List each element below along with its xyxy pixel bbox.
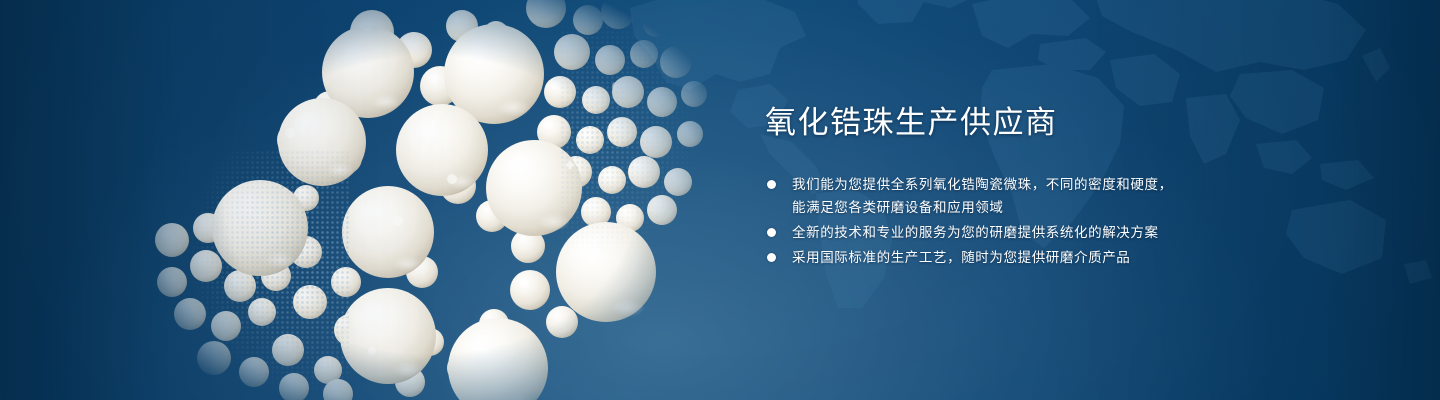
bullet-dot-icon: [767, 253, 776, 262]
list-item-line1: 我们能为您提供全系列氧化锆陶瓷微珠，不同的密度和硬度，: [792, 177, 1173, 192]
list-item: 全新的技术和专业的服务为您的研磨提供系统化的解决方案: [765, 221, 1365, 244]
list-item: 采用国际标准的生产工艺，随时为您提供研磨介质产品: [765, 246, 1365, 269]
page-title: 氧化锆珠生产供应商: [765, 104, 1365, 143]
list-item: 我们能为您提供全系列氧化锆陶瓷微珠，不同的密度和硬度， 能满足您各类研磨设备和应…: [765, 173, 1365, 219]
list-item-line1: 采用国际标准的生产工艺，随时为您提供研磨介质产品: [792, 250, 1130, 265]
bullet-dot-icon: [767, 228, 776, 237]
list-item-line1: 全新的技术和专业的服务为您的研磨提供系统化的解决方案: [792, 225, 1159, 240]
list-item-line2: 能满足您各类研磨设备和应用领域: [792, 196, 1365, 219]
bullet-dot-icon: [767, 180, 776, 189]
hero-banner: 氧化锆珠生产供应商 我们能为您提供全系列氧化锆陶瓷微珠，不同的密度和硬度， 能满…: [0, 0, 1440, 400]
banner-copy: 氧化锆珠生产供应商 我们能为您提供全系列氧化锆陶瓷微珠，不同的密度和硬度， 能满…: [765, 104, 1365, 271]
feature-list: 我们能为您提供全系列氧化锆陶瓷微珠，不同的密度和硬度， 能满足您各类研磨设备和应…: [765, 173, 1365, 269]
